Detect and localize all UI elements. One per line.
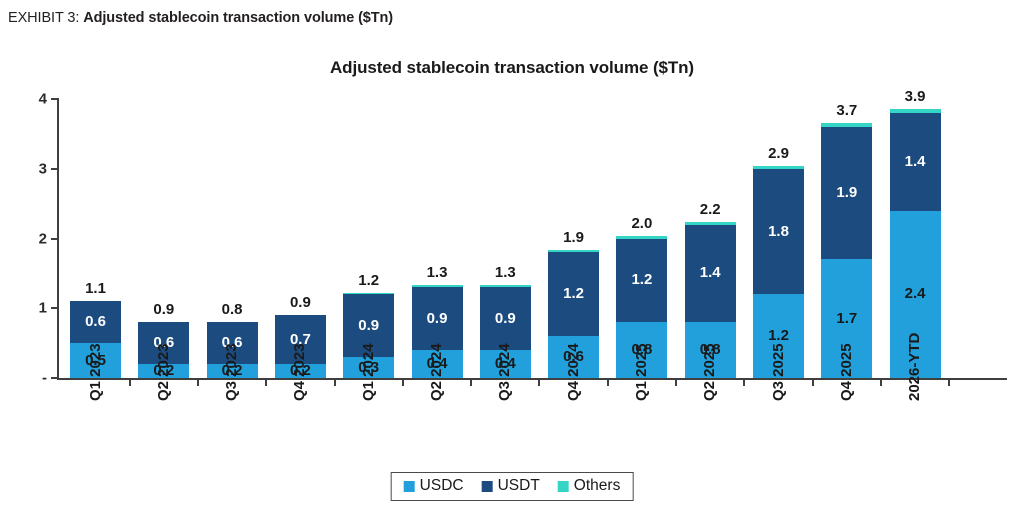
legend-item-usdc[interactable]: USDC [404, 477, 464, 495]
bar-total-label: 1.3 [480, 264, 531, 281]
bar-total-label: 3.9 [890, 88, 941, 105]
y-axis-tick [51, 168, 59, 170]
y-axis-tick [51, 307, 59, 309]
legend-label: USDT [498, 477, 540, 495]
bar-segment-value-usdt: 1.2 [616, 272, 667, 287]
legend-swatch-icon [404, 481, 415, 492]
x-axis-category-label: Q2 2025 [701, 343, 718, 401]
y-axis-tick [51, 377, 59, 379]
x-axis-tick [402, 378, 404, 386]
bar-segment-others[interactable] [890, 109, 941, 112]
legend-item-others[interactable]: Others [558, 477, 621, 495]
legend-item-usdt[interactable]: USDT [482, 477, 540, 495]
x-axis-tick [470, 378, 472, 386]
legend-label: Others [574, 477, 621, 495]
bar-segment-value-usdt: 0.9 [343, 318, 394, 333]
x-axis-line [57, 378, 1007, 380]
bar-segment-others[interactable] [480, 285, 531, 287]
bar-segment-others[interactable] [616, 236, 667, 239]
bar-segment-value-usdt: 1.9 [821, 185, 872, 200]
y-axis-tick-label: 2 [9, 230, 47, 247]
y-axis-tick [51, 98, 59, 100]
bar-total-label: 1.2 [343, 272, 394, 289]
exhibit-label: EXHIBIT 3: [8, 10, 83, 26]
bar-total-label: 0.9 [138, 301, 189, 318]
bar-segment-value-usdt: 1.4 [890, 154, 941, 169]
bar-segment-value-usdt: 0.6 [70, 314, 121, 329]
x-axis-category-label: Q3 2024 [496, 343, 513, 401]
x-axis-category-label: Q1 2025 [633, 343, 650, 401]
x-axis-category-label: Q1 2024 [360, 343, 377, 401]
x-axis-category-label: Q3 2023 [223, 343, 240, 401]
x-axis-tick [129, 378, 131, 386]
bar-total-label: 3.7 [821, 102, 872, 119]
x-axis-tick [538, 378, 540, 386]
x-axis-tick [743, 378, 745, 386]
x-axis-category-label: Q4 2024 [565, 343, 582, 401]
bar-total-label: 1.9 [548, 229, 599, 246]
x-axis-tick [334, 378, 336, 386]
bar-segment-value-usdt: 1.8 [753, 224, 804, 239]
y-axis-tick-label: 4 [9, 91, 47, 108]
x-axis-tick [880, 378, 882, 386]
legend-swatch-icon [482, 481, 493, 492]
exhibit-header: EXHIBIT 3: Adjusted stablecoin transacti… [8, 10, 393, 26]
y-axis-tick-label: - [9, 370, 47, 387]
x-axis-category-label: 2026-YTD [906, 333, 923, 401]
x-axis-category-label: Q4 2025 [838, 343, 855, 401]
x-axis-category-label: Q1 2023 [87, 343, 104, 401]
chart-legend: USDCUSDTOthers [391, 472, 634, 501]
x-axis-tick [265, 378, 267, 386]
bar-segment-others[interactable] [821, 123, 872, 126]
bar-segment-value-usdt: 0.9 [412, 311, 463, 326]
bar-segment-value-usdc: 1.2 [753, 328, 804, 343]
y-axis-tick [51, 238, 59, 240]
x-axis-category-label: Q2 2024 [428, 343, 445, 401]
bar-segment-others[interactable] [548, 250, 599, 253]
y-axis-tick-label: 3 [9, 160, 47, 177]
x-axis-tick [607, 378, 609, 386]
bar-segment-value-usdc: 1.7 [821, 311, 872, 326]
plot-area: -12340.50.61.1Q1 20230.20.60.9Q2 20230.2… [57, 99, 1007, 378]
bar-segment-others[interactable] [343, 293, 394, 294]
bar-total-label: 2.0 [616, 215, 667, 232]
bar-segment-value-usdc: 2.4 [890, 286, 941, 301]
chart-page: EXHIBIT 3: Adjusted stablecoin transacti… [0, 0, 1024, 522]
legend-swatch-icon [558, 481, 569, 492]
bar-total-label: 0.9 [275, 294, 326, 311]
bar-segment-others[interactable] [753, 166, 804, 169]
chart-title: Adjusted stablecoin transaction volume (… [0, 58, 1024, 78]
y-axis-tick-label: 1 [9, 300, 47, 317]
x-axis-category-label: Q3 2025 [770, 343, 787, 401]
x-axis-tick [197, 378, 199, 386]
x-axis-tick [812, 378, 814, 386]
bar-segment-value-usdt: 1.2 [548, 286, 599, 301]
x-axis-category-label: Q4 2023 [291, 343, 308, 401]
legend-label: USDC [420, 477, 464, 495]
bar-segment-value-usdt: 1.4 [685, 265, 736, 280]
x-axis-tick [675, 378, 677, 386]
bar-total-label: 2.2 [685, 201, 736, 218]
bar-segment-value-usdt: 0.9 [480, 311, 531, 326]
bar-total-label: 0.8 [207, 301, 258, 318]
x-axis-category-label: Q2 2023 [155, 343, 172, 401]
bar-total-label: 1.3 [412, 264, 463, 281]
x-axis-tick [948, 378, 950, 386]
exhibit-title: Adjusted stablecoin transaction volume (… [83, 10, 393, 26]
bar-total-label: 2.9 [753, 145, 804, 162]
bar-segment-others[interactable] [412, 285, 463, 287]
bar-group[interactable]: 1.71.93.7 [821, 123, 872, 378]
bar-total-label: 1.1 [70, 280, 121, 297]
bar-segment-others[interactable] [685, 222, 736, 225]
